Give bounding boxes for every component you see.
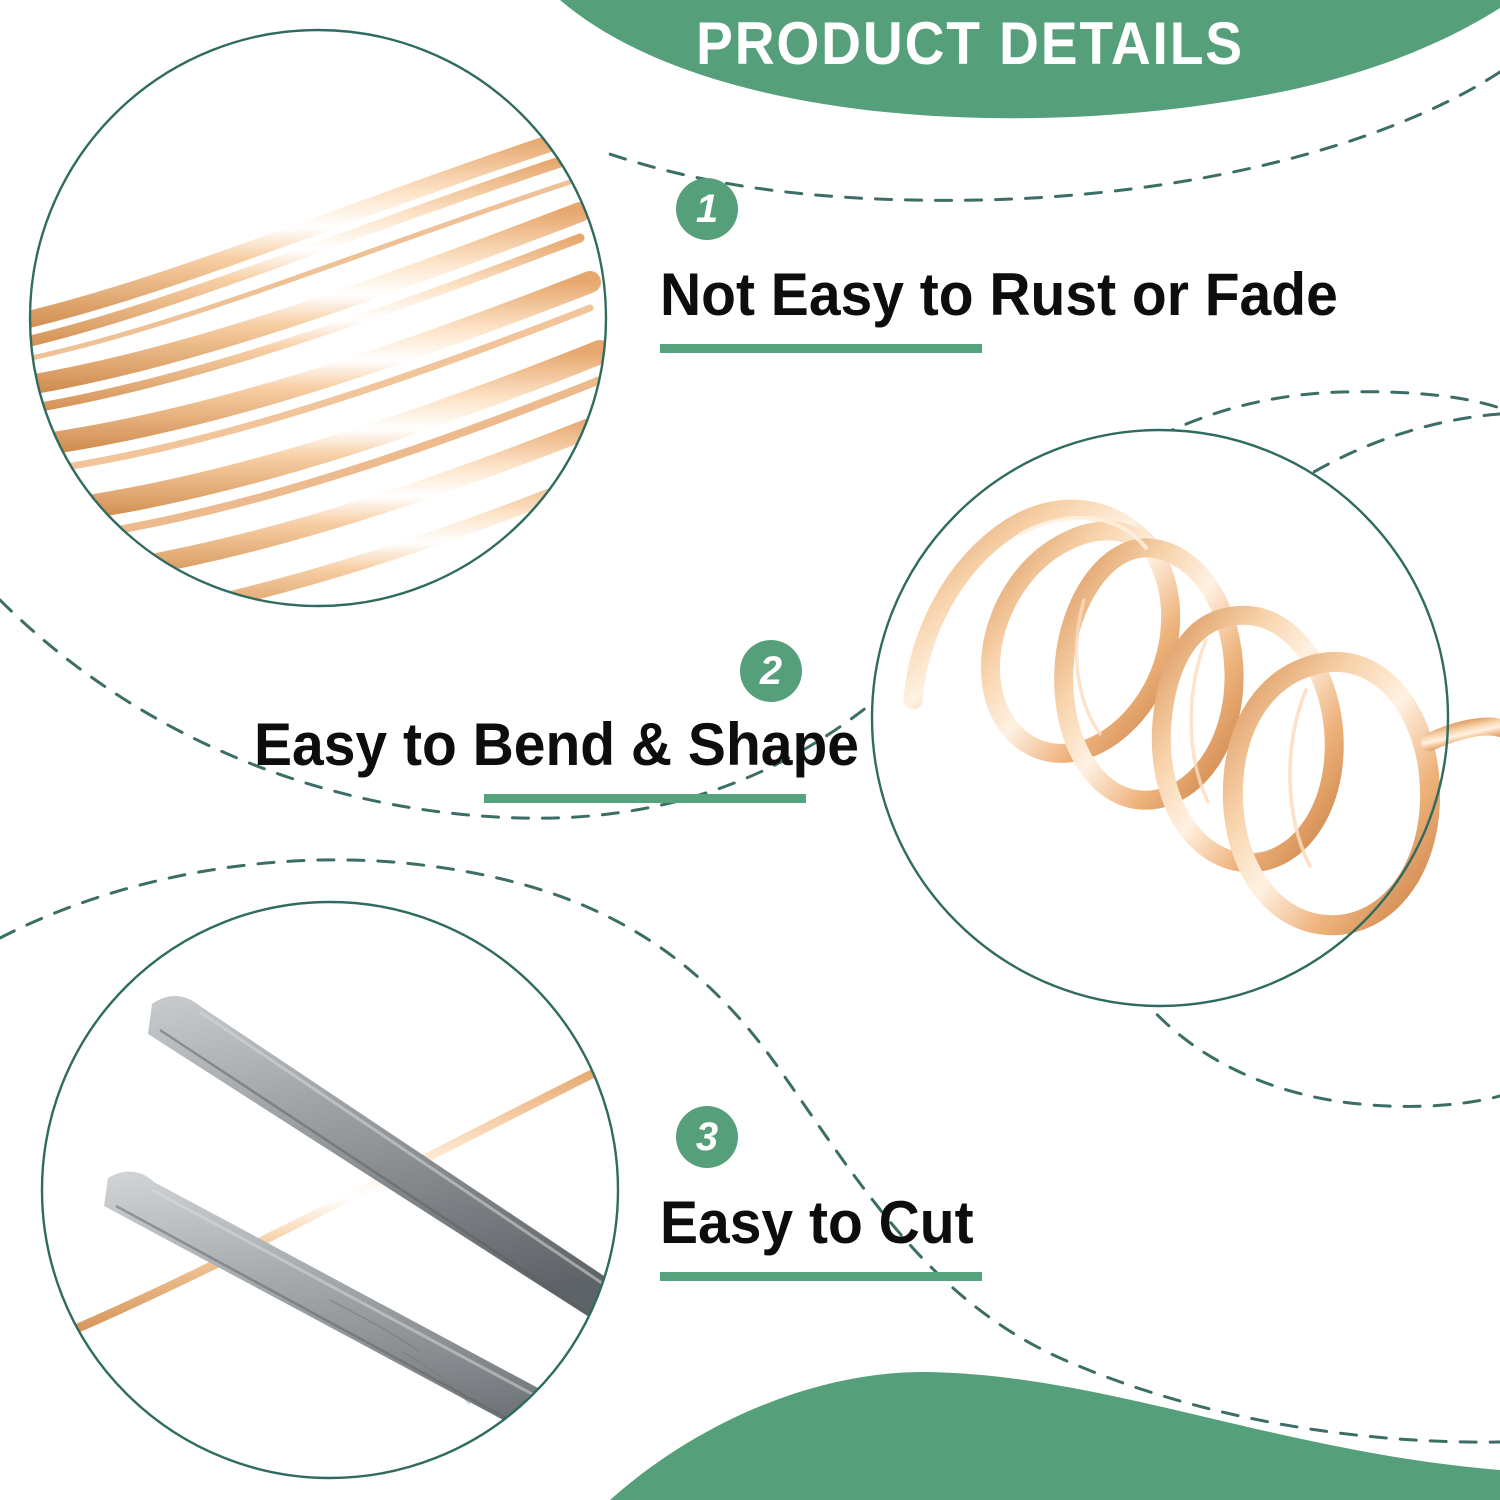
feature-underline-1 [660,344,982,353]
feature-badge-1: 1 [676,178,738,240]
feature-underline-2 [484,794,806,803]
feature-title-2: Easy to Bend & Shape [254,712,859,778]
content-layer: PRODUCT DETAILS 1 Not Easy to Rust or Fa… [0,0,1500,1500]
product-details-infographic: PRODUCT DETAILS 1 Not Easy to Rust or Fa… [0,0,1500,1500]
feature-badge-2: 2 [740,640,802,702]
feature-underline-3 [660,1272,982,1281]
page-title: PRODUCT DETAILS [666,6,1273,82]
feature-title-1: Not Easy to Rust or Fade [660,262,1338,328]
feature-title-3: Easy to Cut [660,1190,974,1256]
feature-badge-3: 3 [676,1106,738,1168]
